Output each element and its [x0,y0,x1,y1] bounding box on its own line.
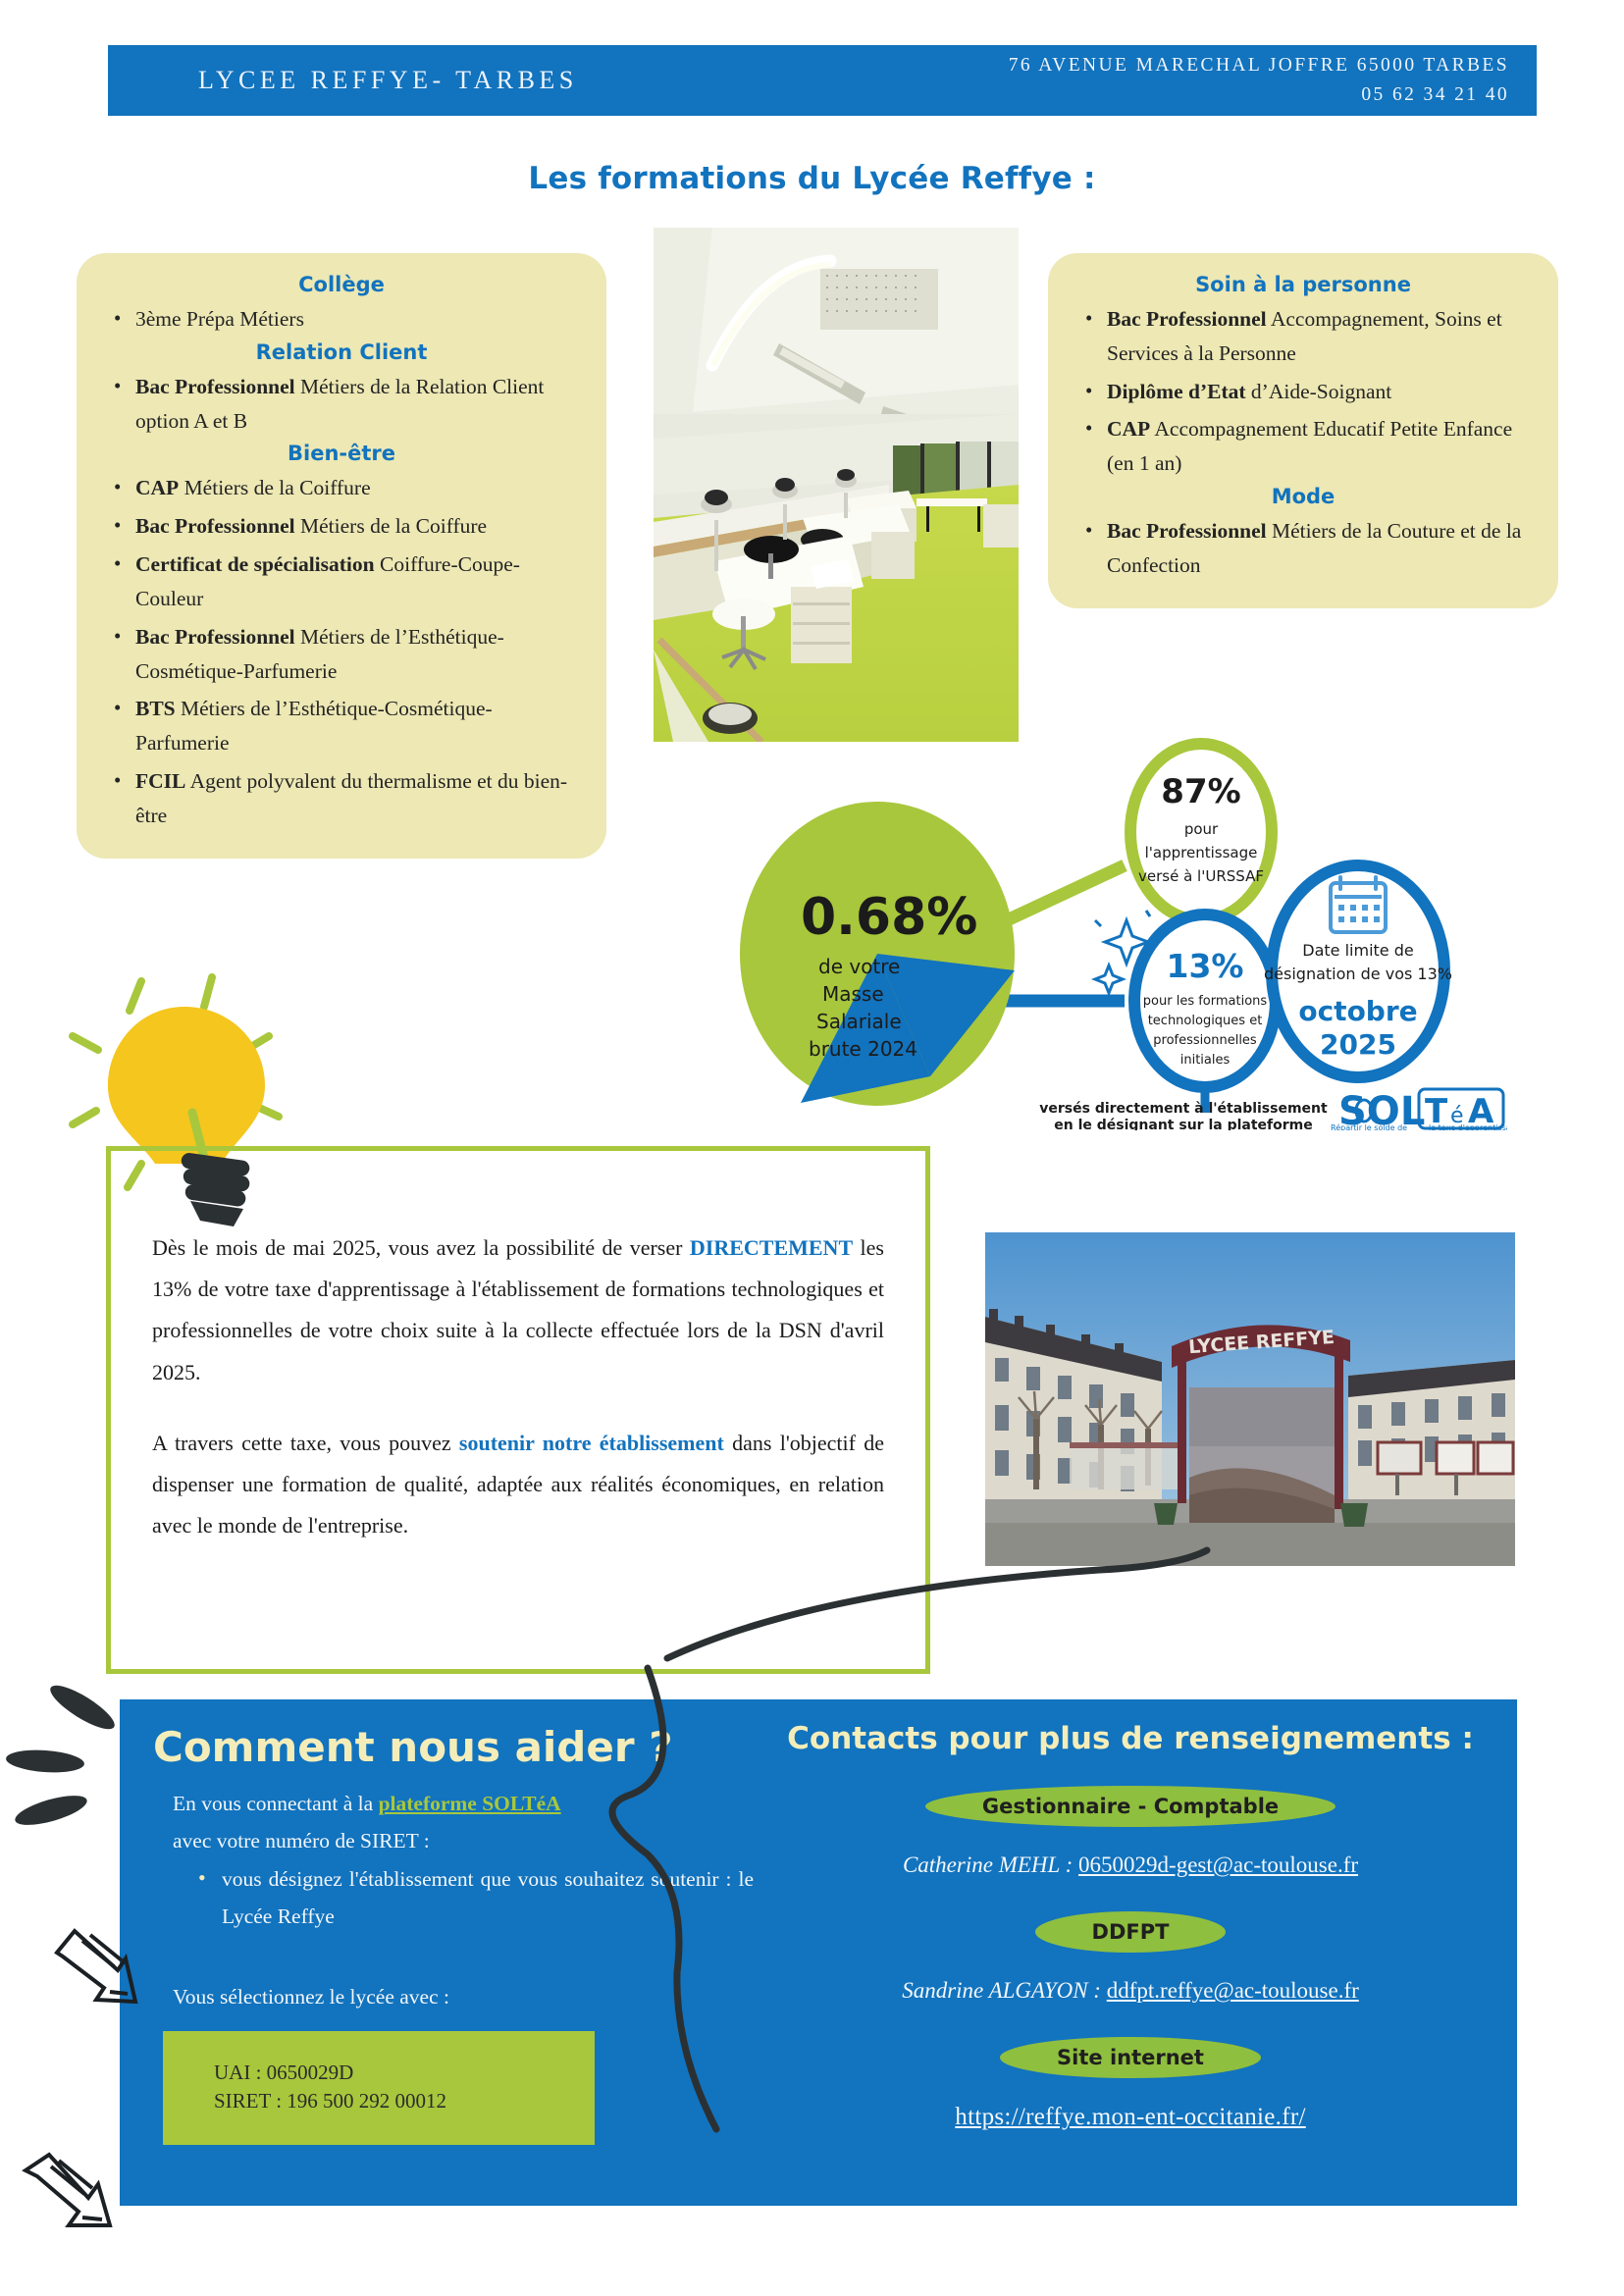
help-and-contacts-panel: Comment nous aider ? En vous connectant … [120,1699,1517,2206]
contact-ddfpt: Sandrine ALGAYON : ddfpt.reffye@ac-toulo… [767,1978,1493,2004]
formation-label: Bac Professionnel [135,625,295,649]
p2-highlight: soutenir notre établissement [459,1431,724,1455]
help-section: Comment nous aider ? En vous connectant … [145,1723,754,2145]
formation-label: Diplôme d’Etat [1107,380,1246,403]
arrow-doodle-lower [26,2155,110,2225]
help-title: Comment nous aider ? [145,1723,754,1771]
spacer [173,1935,754,1978]
paragraph-1: Dès le mois de mai 2025, vous avez la po… [152,1227,884,1393]
school-building-photo: LYCEE REFFYE [985,1232,1515,1566]
deadline-month: octobre [1298,995,1417,1027]
list-item: CAP Accompagnement Educatif Petite Enfan… [1074,412,1533,481]
list-item: 3ème Prépa Métiers [102,302,581,337]
soltea-logo: SOL T é A Répartir le solde de la taxe d… [1331,1089,1507,1130]
pie-sub-3: Salariale [816,1010,902,1033]
header-bar: LYCEE REFFYE- TARBES 76 AVENUE MARECHAL … [108,45,1537,116]
pie-sub-2: Masse [822,982,884,1006]
category-heading-bien-etre: Bien-être [102,442,581,465]
deadline-l1: Date limite de [1302,941,1413,960]
formation-label: Certificat de spécialisation [135,552,375,576]
list-item: vous désignez l'établissement que vous s… [190,1860,754,1936]
bubble-13-value: 13% [1167,947,1244,985]
list-item: FCIL Agent polyvalent du thermalisme et … [102,764,581,833]
siret-value: SIRET : 196 500 292 00012 [214,2087,595,2115]
list-item: Bac Professionnel Métiers de la Relation… [102,370,581,439]
p2-part-a: A travers cette taxe, vous pouvez [152,1431,459,1455]
poster-page: LYCEE REFFYE- TARBES 76 AVENUE MARECHAL … [0,0,1624,2296]
contact-name: Catherine MEHL : [903,1852,1078,1877]
p1-part-a: Dès le mois de mai 2025, vous avez la po… [152,1235,690,1260]
help-bullet-list: vous désignez l'établissement que vous s… [173,1860,754,1936]
burst-lines-icon [5,1679,120,1832]
formation-label: Bac Professionnel [1107,307,1267,331]
taxe-apprentissage-infographic: 0.68% de votre Masse Salariale brute 202… [703,738,1507,1130]
pie-main-value: 0.68% [801,888,977,947]
page-title: Les formations du Lycée Reffye : [0,161,1624,196]
category-heading-soin: Soin à la personne [1074,273,1533,296]
list-item: Diplôme d’Etat d’Aide-Soignant [1074,375,1533,409]
role-badge-gestionnaire: Gestionnaire - Comptable [925,1786,1336,1827]
role-badge-ddfpt: DDFPT [1035,1911,1227,1953]
category-heading-mode: Mode [1074,485,1533,508]
footnote-l1: versés directement à l'établissement [1039,1101,1328,1117]
logo-sub-left: Répartir le solde de [1331,1122,1407,1130]
formations-list-bien-etre: CAP Métiers de la Coiffure Bac Professio… [102,471,581,832]
help-line-2: avec votre numéro de SIRET : [173,1822,754,1859]
school-address: 76 AVENUE MARECHAL JOFFRE 65000 TARBES 0… [1009,51,1509,109]
bubble-13-l4: initiales [1180,1053,1231,1068]
formation-text: Métiers de l’Esthétique-Cosmétique-Parfu… [135,697,493,755]
formation-label: FCIL [135,769,185,793]
identifiers-box: UAI : 0650029D SIRET : 196 500 292 00012 [163,2031,595,2145]
help-line1-text: En vous connectant à la [173,1792,379,1815]
formation-text: Métiers de la Coiffure [295,514,487,538]
formation-label: Bac Professionnel [135,375,295,398]
contact-email[interactable]: ddfpt.reffye@ac-toulouse.fr [1107,1978,1359,2003]
list-item: BTS Métiers de l’Esthétique-Cosmétique-P… [102,692,581,760]
list-item: Bac Professionnel Métiers de l’Esthétiqu… [102,620,581,689]
formations-list-relation-client: Bac Professionnel Métiers de la Relation… [102,370,581,439]
formation-label: Bac Professionnel [1107,519,1267,543]
formations-list-college: 3ème Prépa Métiers [102,302,581,337]
school-name: LYCEE REFFYE- TARBES [198,66,578,95]
category-heading-college: Collège [102,273,581,296]
main-message-box: Dès le mois de mai 2025, vous avez la po… [106,1146,930,1674]
bubble-87-l2: l'apprentissage [1145,844,1258,861]
bubble-87-value: 87% [1161,772,1240,811]
paragraph-2: A travers cette taxe, vous pouvez souten… [152,1423,884,1547]
formation-text: d’Aide-Soignant [1246,380,1392,403]
pie-sub-1: de votre [818,955,900,978]
bubble-13-l1: pour les formations [1143,994,1268,1009]
contact-name: Sandrine ALGAYON : [902,1978,1107,2003]
list-item: CAP Métiers de la Coiffure [102,471,581,505]
list-item: Bac Professionnel Accompagnement, Soins … [1074,302,1533,371]
help-body: En vous connectant à la plateforme SOLTé… [145,1785,754,2015]
help-line-1: En vous connectant à la plateforme SOLTé… [173,1785,754,1822]
formation-label: BTS [135,697,176,720]
formations-list-soin: Bac Professionnel Accompagnement, Soins … [1074,302,1533,481]
classroom-photo-illustration [654,228,1019,742]
footnote-l2: en le désignant sur la plateforme [1054,1118,1312,1130]
contacts-title: Contacts pour plus de renseignements : [767,1721,1493,1756]
contact-email[interactable]: 0650029d-gest@ac-toulouse.fr [1078,1852,1358,1877]
formation-label: CAP [135,476,179,499]
address-street: 76 AVENUE MARECHAL JOFFRE 65000 TARBES [1009,51,1509,80]
deadline-year: 2025 [1320,1028,1396,1061]
main-message-text: Dès le mois de mai 2025, vous avez la po… [111,1151,925,1547]
formation-text: Accompagnement Educatif Petite Enfance (… [1107,417,1512,475]
bubble-13-l2: technologiques et [1148,1014,1263,1028]
formation-label: Bac Professionnel [135,514,295,538]
category-heading-relation-client: Relation Client [102,340,581,364]
formations-right-card: Soin à la personne Bac Professionnel Acc… [1048,253,1558,608]
infographic-svg: 0.68% de votre Masse Salariale brute 202… [703,738,1507,1130]
soltea-platform-link[interactable]: plateforme SOLTéA [379,1792,561,1815]
logo-sub-right: la taxe d'apprentissage [1429,1123,1507,1130]
list-item: Bac Professionnel Métiers de la Couture … [1074,514,1533,583]
address-phone: 05 62 34 21 40 [1009,80,1509,110]
uai-value: UAI : 0650029D [214,2059,595,2087]
contact-gestionnaire: Catherine MEHL : 0650029d-gest@ac-toulou… [767,1852,1493,1878]
deadline-l2: désignation de vos 13% [1264,965,1452,983]
pie-sub-4: brute 2024 [809,1037,917,1061]
role-badge-site-internet: Site internet [1000,2037,1261,2078]
bubble-87-l1: pour [1184,820,1219,838]
formation-text: Métiers de la Coiffure [179,476,370,499]
p1-highlight: DIRECTEMENT [690,1235,853,1260]
list-item: Bac Professionnel Métiers de la Coiffure [102,509,581,544]
classroom-photo [654,228,1019,742]
formations-left-card: Collège 3ème Prépa Métiers Relation Clie… [77,253,606,859]
formation-text: 3ème Prépa Métiers [135,307,304,331]
building-photo-illustration: LYCEE REFFYE [985,1232,1515,1566]
contacts-section: Contacts pour plus de renseignements : G… [767,1721,1493,2131]
formations-list-mode: Bac Professionnel Métiers de la Couture … [1074,514,1533,583]
help-line-3: Vous sélectionnez le lycée avec : [173,1978,754,2015]
list-item: Certificat de spécialisation Coiffure-Co… [102,548,581,616]
bubble-87-l3: versé à l'URSSAF [1138,867,1264,885]
formation-label: CAP [1107,417,1150,441]
bubble-13-l3: professionnelles [1153,1033,1257,1048]
website-link[interactable]: https://reffye.mon-ent-occitanie.fr/ [767,2104,1493,2131]
formation-text: Agent polyvalent du thermalisme et du bi… [135,769,567,827]
